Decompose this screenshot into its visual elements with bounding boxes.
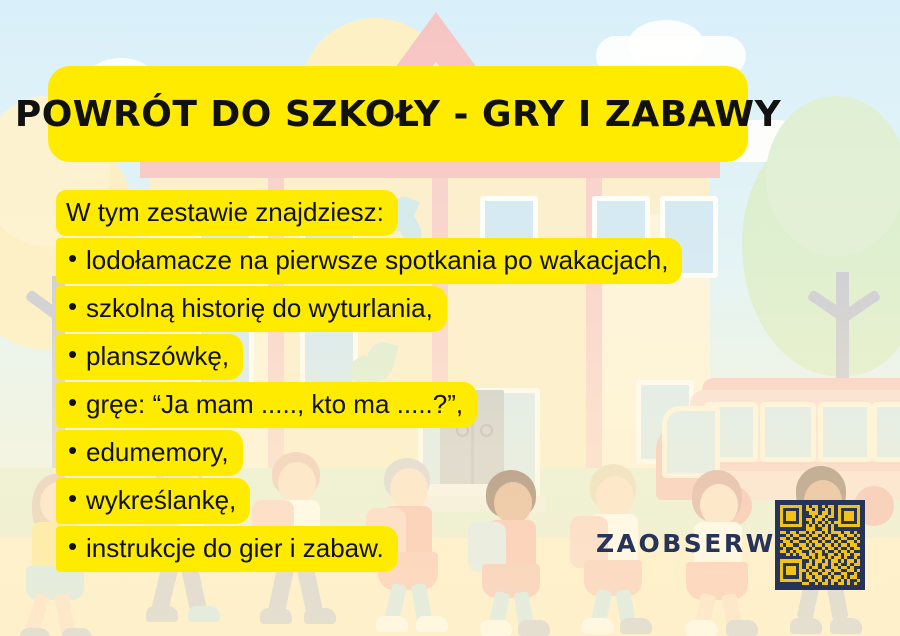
content-list: W tym zestawie znajdziesz: lodołamacze n…: [56, 190, 776, 572]
list-item-label: lodołamacze na pierwsze spotkania po wak…: [56, 238, 682, 284]
bus-window: [818, 402, 872, 462]
intro-text: W tym zestawie znajdziesz:: [56, 190, 398, 236]
qr-code-matrix: [780, 505, 860, 585]
tree-icon-right: [766, 96, 900, 256]
page-title: POWRÓT DO SZKOŁY - GRY I ZABAWY: [15, 94, 781, 135]
list-item-label: instrukcje do gier i zabaw.: [56, 526, 398, 572]
list-item-label: wykreślankę,: [56, 478, 250, 524]
cloud-icon: [628, 20, 704, 68]
list-item: gręe: “Ja mam ....., kto ma .....?”,: [56, 382, 477, 428]
list-item-label: planszówkę,: [56, 334, 243, 380]
list-item-label: edumemory,: [56, 430, 243, 476]
poster-canvas: POWRÓT DO SZKOŁY - GRY I ZABAWY W tym ze…: [0, 0, 900, 636]
list-item-label: szkolną historię do wyturlania,: [56, 286, 447, 332]
qr-code[interactable]: [775, 500, 865, 590]
list-item: edumemory,: [56, 430, 243, 476]
bus-window: [872, 402, 900, 462]
list-item: planszówkę,: [56, 334, 243, 380]
intro-line: W tym zestawie znajdziesz:: [56, 190, 398, 236]
list-item-label: gręe: “Ja mam ....., kto ma .....?”,: [56, 382, 477, 428]
list-item: lodołamacze na pierwsze spotkania po wak…: [56, 238, 682, 284]
list-item: wykreślankę,: [56, 478, 250, 524]
list-item: instrukcje do gier i zabaw.: [56, 526, 398, 572]
title-banner: POWRÓT DO SZKOŁY - GRY I ZABAWY: [48, 66, 748, 162]
list-item: szkolną historię do wyturlania,: [56, 286, 447, 332]
